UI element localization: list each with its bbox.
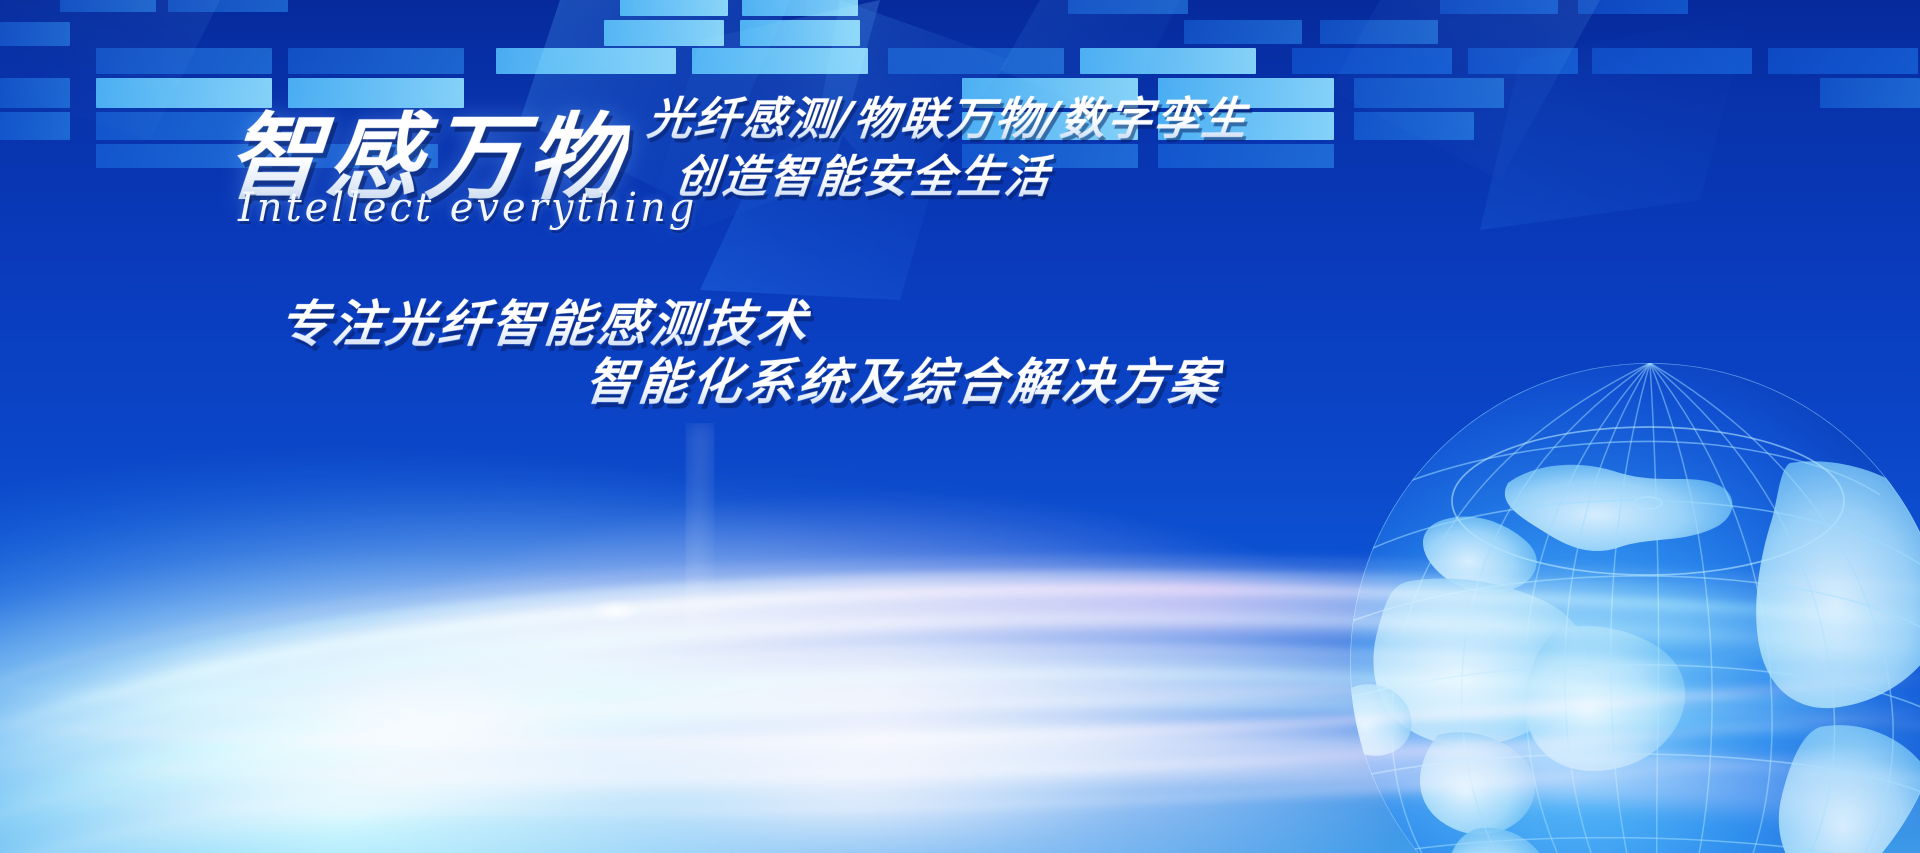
- tagline-line-1: 光纤感测/物联万物/数字孪生: [645, 82, 1253, 147]
- subtitle-line-2: 智能化系统及综合解决方案: [582, 342, 1226, 414]
- page-title: 智感万物: [222, 82, 634, 218]
- light-streak-swoosh: [0, 423, 1920, 853]
- globe-graphic: [1320, 333, 1920, 853]
- tagline-line-2: 创造智能安全生活: [673, 140, 1056, 205]
- subtitle-line-1: 专注光纤智能感测技术: [276, 284, 814, 356]
- digital-data-blocks: [0, 0, 1920, 170]
- lens-flare-icon: [592, 600, 640, 622]
- hero-banner: 智感万物 Intellect everything 光纤感测/物联万物/数字孪生…: [0, 0, 1920, 853]
- page-title-english: Intellect everything: [238, 185, 697, 231]
- polygon-light-shards: [0, 0, 1920, 460]
